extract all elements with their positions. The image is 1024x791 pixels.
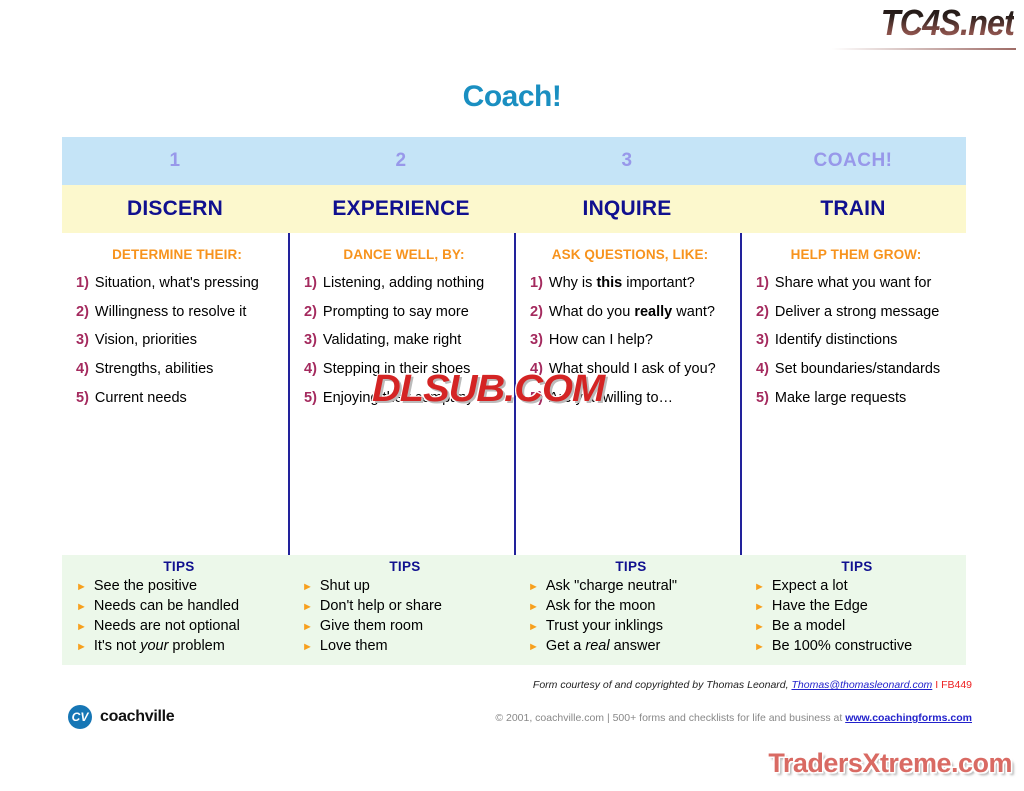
list-item: 3)Vision, priorities [76, 332, 278, 350]
tip-item: ►Shut up [302, 576, 508, 596]
triangle-bullet-icon: ► [528, 622, 539, 633]
list-item: 1)Why is this important? [530, 275, 730, 293]
header-number-coach: COACH! [740, 137, 966, 185]
list-item-number: 1) [756, 275, 769, 293]
tip-item-text: Get a real answer [546, 636, 660, 656]
tip-item: ►It's not your problem [76, 636, 282, 656]
list-item-number: 5) [304, 390, 317, 408]
header-number-1: 1 [62, 137, 288, 185]
tip-item: ►Needs are not optional [76, 616, 282, 636]
list-item-number: 3) [304, 332, 317, 350]
column-train: HELP THEM GROW: 1)Share what you want fo… [740, 233, 966, 555]
list-item: 1)Listening, adding nothing [304, 275, 504, 293]
list-item-text: Willingness to resolve it [95, 304, 278, 322]
item-list-inquire: 1)Why is this important?2)What do you re… [530, 275, 730, 407]
tip-item-text: Give them room [320, 616, 423, 636]
page-title: Coach! [0, 80, 1024, 114]
tip-item-text: Needs can be handled [94, 596, 239, 616]
tips-row: TIPS ►See the positive►Needs can be hand… [62, 555, 966, 665]
tip-item: ►Ask for the moon [528, 596, 734, 616]
list-item: 1)Situation, what's pressing [76, 275, 278, 293]
list-item: 2)Prompting to say more [304, 304, 504, 322]
header-name-experience: EXPERIENCE [288, 185, 514, 233]
tip-item: ►Ask "charge neutral" [528, 576, 734, 596]
list-item-number: 4) [530, 361, 543, 379]
list-item: 1)Share what you want for [756, 275, 956, 293]
column-experience: DANCE WELL, BY: 1)Listening, adding noth… [288, 233, 514, 555]
tip-item-text: Don't help or share [320, 596, 442, 616]
triangle-bullet-icon: ► [528, 602, 539, 613]
list-item-number: 4) [76, 361, 89, 379]
coachville-wordmark: coachville [100, 708, 174, 726]
list-item: 4)Set boundaries/standards [756, 361, 956, 379]
list-item-number: 2) [530, 304, 543, 322]
column-inquire: ASK QUESTIONS, LIKE: 1)Why is this impor… [514, 233, 740, 555]
triangle-bullet-icon: ► [302, 582, 313, 593]
list-item-text: Prompting to say more [323, 304, 504, 322]
list-item-text: What should I ask of you? [549, 361, 730, 379]
list-item: 2)What do you really want? [530, 304, 730, 322]
list-item-text: Vision, priorities [95, 332, 278, 350]
list-item-number: 1) [76, 275, 89, 293]
header-number-2: 2 [288, 137, 514, 185]
triangle-bullet-icon: ► [754, 642, 765, 653]
triangle-bullet-icon: ► [528, 582, 539, 593]
list-item-text: Identify distinctions [775, 332, 956, 350]
credit-text: Form courtesy of and copyrighted by Thom… [533, 679, 792, 691]
table-body-row: DETERMINE THEIR: 1)Situation, what's pre… [62, 233, 966, 555]
list-item-number: 5) [756, 390, 769, 408]
column-heading-train: HELP THEM GROW: [756, 247, 956, 262]
triangle-bullet-icon: ► [754, 582, 765, 593]
tip-item-text: Love them [320, 636, 388, 656]
list-item-text: Set boundaries/standards [775, 361, 956, 379]
tip-item-text: Ask for the moon [546, 596, 656, 616]
list-item-text: Make large requests [775, 390, 956, 408]
tips-column-experience: TIPS ►Shut up►Don't help or share►Give t… [288, 555, 514, 665]
tips-list-train: ►Expect a lot►Have the Edge►Be a model►B… [754, 576, 960, 656]
tip-item: ►Expect a lot [754, 576, 960, 596]
list-item-number: 2) [76, 304, 89, 322]
tip-item-text: Trust your inklings [546, 616, 663, 636]
tip-item-text: See the positive [94, 576, 197, 596]
tip-item-text: Be a model [772, 616, 845, 636]
list-item-number: 2) [304, 304, 317, 322]
column-heading-discern: DETERMINE THEIR: [76, 247, 278, 262]
tc4s-logo-underline [832, 48, 1016, 50]
credit-email-link[interactable]: Thomas@thomasleonard.com [791, 679, 932, 691]
list-item-text: Why is this important? [549, 275, 730, 293]
list-item-number: 1) [304, 275, 317, 293]
tip-item: ►Be a model [754, 616, 960, 636]
table-header-names-row: DISCERN EXPERIENCE INQUIRE TRAIN [62, 185, 966, 233]
list-item-text: Strengths, abilities [95, 361, 278, 379]
tip-item: ►Love them [302, 636, 508, 656]
triangle-bullet-icon: ► [76, 582, 87, 593]
tip-item: ►Be 100% constructive [754, 636, 960, 656]
tips-column-inquire: TIPS ►Ask "charge neutral"►Ask for the m… [514, 555, 740, 665]
credit-separator: I [932, 679, 941, 691]
list-item: 2)Deliver a strong message [756, 304, 956, 322]
tip-item-text: Be 100% constructive [772, 636, 912, 656]
triangle-bullet-icon: ► [302, 622, 313, 633]
list-item: 2)Willingness to resolve it [76, 304, 278, 322]
list-item-text: Enjoying their company [323, 390, 504, 408]
item-list-train: 1)Share what you want for2)Deliver a str… [756, 275, 956, 407]
tips-list-discern: ►See the positive►Needs can be handled►N… [76, 576, 282, 656]
triangle-bullet-icon: ► [76, 602, 87, 613]
tip-item: ►Get a real answer [528, 636, 734, 656]
tip-item-text: Ask "charge neutral" [546, 576, 677, 596]
list-item-number: 5) [76, 390, 89, 408]
tip-item-text: It's not your problem [94, 636, 225, 656]
list-item-number: 2) [756, 304, 769, 322]
credit-line: Form courtesy of and copyrighted by Thom… [0, 679, 972, 691]
list-item: 5)Make large requests [756, 390, 956, 408]
list-item-text: Current needs [95, 390, 278, 408]
list-item: 4)Stepping in their shoes [304, 361, 504, 379]
header-name-discern: DISCERN [62, 185, 288, 233]
tradersxtreme-watermark: TradersXtreme.com [768, 748, 1012, 779]
list-item: 3)Identify distinctions [756, 332, 956, 350]
list-item-text: Share what you want for [775, 275, 956, 293]
tips-heading-experience: TIPS [302, 559, 508, 574]
list-item-number: 4) [756, 361, 769, 379]
tip-item-text: Needs are not optional [94, 616, 240, 636]
triangle-bullet-icon: ► [528, 642, 539, 653]
tip-item: ►Give them room [302, 616, 508, 636]
tips-heading-inquire: TIPS [528, 559, 734, 574]
list-item-number: 1) [530, 275, 543, 293]
list-item: 5)Current needs [76, 390, 278, 408]
table-header-numbers-row: 1 2 3 COACH! [62, 137, 966, 185]
tips-heading-train: TIPS [754, 559, 960, 574]
list-item: 5)Enjoying their company [304, 390, 504, 408]
list-item-text: What do you really want? [549, 304, 730, 322]
list-item-number: 3) [530, 332, 543, 350]
item-list-experience: 1)Listening, adding nothing2)Prompting t… [304, 275, 504, 407]
list-item-text: Situation, what's pressing [95, 275, 278, 293]
tip-item-text: Shut up [320, 576, 370, 596]
triangle-bullet-icon: ► [302, 602, 313, 613]
triangle-bullet-icon: ► [302, 642, 313, 653]
header-name-train: TRAIN [740, 185, 966, 233]
list-item-number: 4) [304, 361, 317, 379]
triangle-bullet-icon: ► [754, 622, 765, 633]
tip-item: ►Don't help or share [302, 596, 508, 616]
list-item: 3)How can I help? [530, 332, 730, 350]
list-item-text: Validating, make right [323, 332, 504, 350]
list-item: 4)Strengths, abilities [76, 361, 278, 379]
list-item-number: 5) [530, 390, 543, 408]
coachville-logo[interactable]: CV coachville [68, 705, 174, 729]
credit-form-code: FB449 [941, 679, 972, 691]
tips-list-inquire: ►Ask "charge neutral"►Ask for the moon►T… [528, 576, 734, 656]
list-item: 4)What should I ask of you? [530, 361, 730, 379]
tc4s-logo: TC4S.net [881, 2, 1014, 44]
copyright-text: © 2001, coachville.com | 500+ forms and … [495, 712, 845, 724]
list-item-text: Are you willing to… [549, 390, 730, 408]
list-item-text: Stepping in their shoes [323, 361, 504, 379]
triangle-bullet-icon: ► [76, 622, 87, 633]
tips-column-train: TIPS ►Expect a lot►Have the Edge►Be a mo… [740, 555, 966, 665]
tips-heading-discern: TIPS [76, 559, 282, 574]
tips-column-discern: TIPS ►See the positive►Needs can be hand… [62, 555, 288, 665]
coachingforms-link[interactable]: www.coachingforms.com [845, 712, 972, 724]
coach-form-table: 1 2 3 COACH! DISCERN EXPERIENCE INQUIRE … [62, 137, 966, 665]
column-heading-inquire: ASK QUESTIONS, LIKE: [530, 247, 730, 262]
list-item: 3)Validating, make right [304, 332, 504, 350]
list-item-text: How can I help? [549, 332, 730, 350]
tip-item: ►See the positive [76, 576, 282, 596]
list-item-text: Deliver a strong message [775, 304, 956, 322]
tip-item: ►Have the Edge [754, 596, 960, 616]
tips-list-experience: ►Shut up►Don't help or share►Give them r… [302, 576, 508, 656]
tip-item: ►Trust your inklings [528, 616, 734, 636]
list-item-number: 3) [756, 332, 769, 350]
tip-item-text: Have the Edge [772, 596, 868, 616]
tip-item-text: Expect a lot [772, 576, 848, 596]
triangle-bullet-icon: ► [754, 602, 765, 613]
header-number-3: 3 [514, 137, 740, 185]
list-item-number: 3) [76, 332, 89, 350]
item-list-discern: 1)Situation, what's pressing2)Willingnes… [76, 275, 278, 407]
header-name-inquire: INQUIRE [514, 185, 740, 233]
column-discern: DETERMINE THEIR: 1)Situation, what's pre… [62, 233, 288, 555]
triangle-bullet-icon: ► [76, 642, 87, 653]
tip-item: ►Needs can be handled [76, 596, 282, 616]
list-item-text: Listening, adding nothing [323, 275, 504, 293]
column-heading-experience: DANCE WELL, BY: [304, 247, 504, 262]
coachville-cv-icon: CV [68, 705, 92, 729]
list-item: 5)Are you willing to… [530, 390, 730, 408]
